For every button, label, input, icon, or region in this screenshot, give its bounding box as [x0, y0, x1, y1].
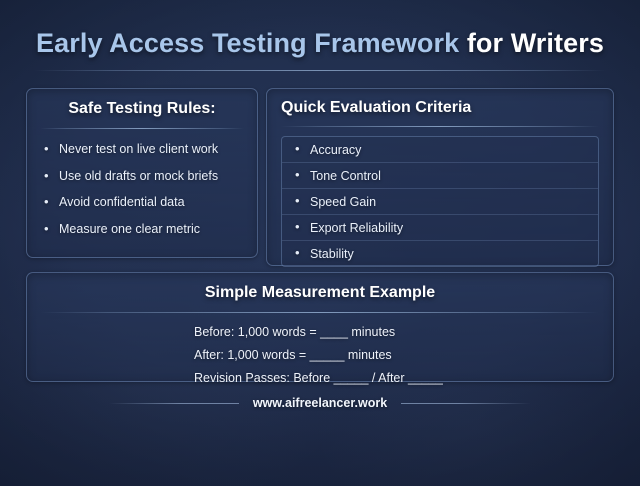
- card-quick-evaluation-criteria: Quick Evaluation Criteria Accuracy Tone …: [266, 88, 614, 266]
- quick-evaluation-criteria-list: Accuracy Tone Control Speed Gain Export …: [281, 136, 599, 267]
- measurement-line: After: 1,000 words = _____ minutes: [194, 348, 446, 362]
- card-simple-measurement-example: Simple Measurement Example Before: 1,000…: [26, 272, 614, 382]
- list-item: Never test on live client work: [40, 142, 244, 156]
- measurement-lines: Before: 1,000 words = ____ minutes After…: [194, 325, 446, 385]
- measurement-line: Before: 1,000 words = ____ minutes: [194, 325, 446, 339]
- card-safe-testing-rules-title: Safe Testing Rules:: [40, 100, 244, 118]
- footer-rule-right: [401, 403, 531, 404]
- list-item: Stability: [282, 241, 598, 266]
- page-title-accent: Early Access Testing Framework: [36, 28, 459, 58]
- footer-rule-left: [109, 403, 239, 404]
- safe-testing-rules-list: Never test on live client work Use old d…: [40, 142, 244, 236]
- title-divider: [34, 70, 606, 71]
- footer: www.aifreelancer.work: [0, 396, 640, 410]
- list-item: Use old drafts or mock briefs: [40, 169, 244, 183]
- list-item: Export Reliability: [282, 215, 598, 241]
- card-simple-measurement-example-divider: [41, 312, 599, 313]
- card-quick-evaluation-criteria-title: Quick Evaluation Criteria: [281, 99, 599, 117]
- card-quick-evaluation-criteria-divider: [281, 126, 599, 127]
- page-title: Early Access Testing Framework for Write…: [0, 28, 640, 59]
- infographic-page: Early Access Testing Framework for Write…: [0, 0, 640, 486]
- page-title-plain: for Writers: [459, 28, 604, 58]
- list-item: Measure one clear metric: [40, 222, 244, 236]
- footer-url: www.aifreelancer.work: [253, 396, 387, 410]
- list-item: Tone Control: [282, 163, 598, 189]
- list-item: Speed Gain: [282, 189, 598, 215]
- card-safe-testing-rules: Safe Testing Rules: Never test on live c…: [26, 88, 258, 258]
- list-item: Avoid confidential data: [40, 195, 244, 209]
- measurement-line: Revision Passes: Before _____ / After __…: [194, 371, 446, 385]
- card-simple-measurement-example-title: Simple Measurement Example: [41, 284, 599, 302]
- list-item: Accuracy: [282, 137, 598, 163]
- card-safe-testing-rules-divider: [40, 128, 244, 129]
